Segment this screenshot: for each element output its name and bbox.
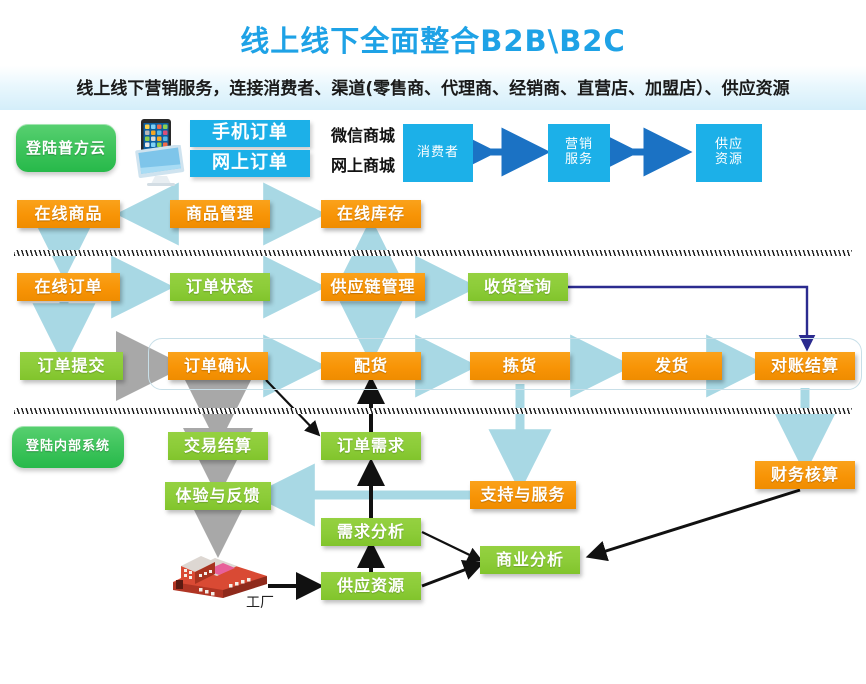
arrow-finance-to-businessanalysis [590, 490, 800, 556]
node-experience-feedback[interactable]: 体验与反馈 [165, 482, 271, 510]
mall-web-label: 网上商城 [320, 150, 406, 177]
node-supply-resource[interactable]: 供应资源 [321, 572, 421, 600]
node-receipt-query[interactable]: 收货查询 [468, 273, 568, 301]
page-title: 线上线下全面整合B2B\B2C [0, 18, 866, 60]
node-demand-analysis[interactable]: 需求分析 [321, 518, 421, 546]
node-shipping[interactable]: 发货 [622, 352, 722, 380]
node-online-goods[interactable]: 在线商品 [17, 200, 120, 228]
node-picking[interactable]: 拣货 [470, 352, 570, 380]
node-goods-management[interactable]: 商品管理 [170, 200, 270, 228]
node-trade-settlement[interactable]: 交易结算 [168, 432, 268, 460]
channel-mobile-order[interactable]: 手机订单 [190, 120, 310, 147]
arrow-demandanalysis-to-businessanalysis [422, 532, 480, 560]
node-order-confirm[interactable]: 订单确认 [168, 352, 268, 380]
actor-marketing-line2: 服务 [565, 153, 593, 168]
page-subtitle: 线上线下营销服务，连接消费者、渠道(零售商、代理商、经销商、直营店、加盟店）、供… [0, 74, 866, 99]
actor-marketing-service[interactable]: 营销 服务 [548, 124, 610, 182]
actor-supply-line1: 供应 [715, 138, 743, 153]
node-order-status[interactable]: 订单状态 [170, 273, 270, 301]
login-internal-system-button[interactable]: 登陆内部系统 [12, 426, 124, 468]
node-reconciliation[interactable]: 对账结算 [755, 352, 855, 380]
actor-supply-resource[interactable]: 供应 资源 [696, 124, 762, 182]
actor-consumer[interactable]: 消费者 [403, 124, 473, 182]
node-distribution[interactable]: 配货 [321, 352, 421, 380]
channel-web-order[interactable]: 网上订单 [190, 150, 310, 177]
node-supply-chain-management[interactable]: 供应链管理 [321, 273, 425, 301]
mall-wechat-label: 微信商城 [320, 120, 406, 147]
dashed-separator-top [14, 250, 852, 256]
factory-label: 工厂 [246, 592, 274, 612]
node-business-analysis[interactable]: 商业分析 [480, 546, 580, 574]
node-order-submit[interactable]: 订单提交 [20, 352, 123, 380]
monitor-icon [135, 145, 187, 187]
login-pufangyun-button[interactable]: 登陆普方云 [16, 124, 116, 172]
actor-marketing-line1: 营销 [565, 138, 593, 153]
diagram-canvas: 线上线下全面整合B2B\B2C 线上线下营销服务，连接消费者、渠道(零售商、代理… [0, 0, 866, 684]
arrow-supplyresource-to-businessanalysis [422, 564, 480, 586]
actor-supply-line2: 资源 [715, 153, 743, 168]
node-finance-accounting[interactable]: 财务核算 [755, 461, 855, 489]
node-order-demand[interactable]: 订单需求 [321, 432, 421, 460]
node-online-order[interactable]: 在线订单 [17, 273, 120, 301]
node-online-stock[interactable]: 在线库存 [321, 200, 421, 228]
node-support-service[interactable]: 支持与服务 [470, 481, 576, 509]
dashed-separator-bottom [14, 408, 852, 414]
